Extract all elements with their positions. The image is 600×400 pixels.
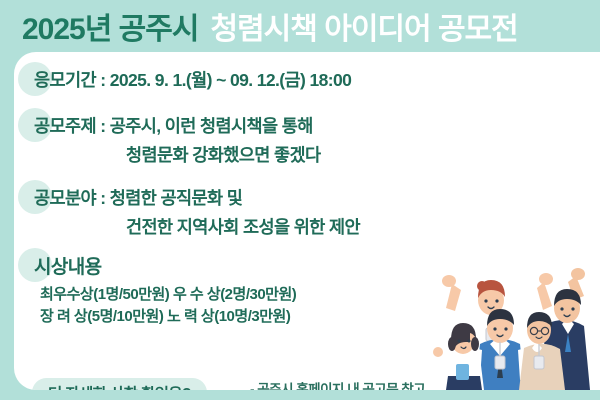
content-card: 응모기간 : 2025. 9. 1.(월) ~ 09. 12.(금) 18:00… xyxy=(14,52,600,390)
contest-field-line-2: 건전한 지역사회 조성을 위한 제안 xyxy=(126,214,360,239)
contest-topic-line-1: 공모주제 : 공주시, 이런 청렴시책을 통해 xyxy=(34,113,313,138)
contest-field-line-1: 공모분야 : 청렴한 공직문화 및 xyxy=(34,185,242,210)
poster-root: 2025년 공주시 청렴시책 아이디어 공모전 응모기간 : 2025. 9. … xyxy=(0,0,600,400)
contact-website-text: - 공주시 홈페이지 내 공고문 참고 xyxy=(250,382,425,390)
title-year-city: 2025년 공주시 xyxy=(22,4,198,48)
more-info-pill[interactable]: 더 자세한 사항 확인은? xyxy=(32,378,207,390)
awards-heading: 시상내용 xyxy=(34,252,102,279)
cheering-office-workers-illustration xyxy=(426,268,594,390)
title-contest-name: 청렴시책 아이디어 공모전 xyxy=(210,4,517,48)
content-body: 응모기간 : 2025. 9. 1.(월) ~ 09. 12.(금) 18:00… xyxy=(14,52,600,390)
more-info-pill-label: 더 자세한 사항 확인은? xyxy=(48,382,191,391)
awards-line-2: 장 려 상(5명/10만원) 노 력 상(10명/3만원) xyxy=(40,305,290,326)
application-period-line: 응모기간 : 2025. 9. 1.(월) ~ 09. 12.(금) 18:00 xyxy=(34,67,351,92)
contact-website-line: - 공주시 홈페이지 내 공고문 참고 xyxy=(250,380,425,390)
awards-line-1: 최우수상(1명/50만원) 우 수 상(2명/30만원) xyxy=(40,283,296,304)
poster-title: 2025년 공주시 청렴시책 아이디어 공모전 xyxy=(0,0,600,52)
contest-topic-line-2: 청렴문화 강화했으면 좋겠다 xyxy=(126,142,321,167)
contact-block: - 공주시 홈페이지 내 공고문 참고 - ☎ 041-840- 2085 (공… xyxy=(250,380,425,390)
